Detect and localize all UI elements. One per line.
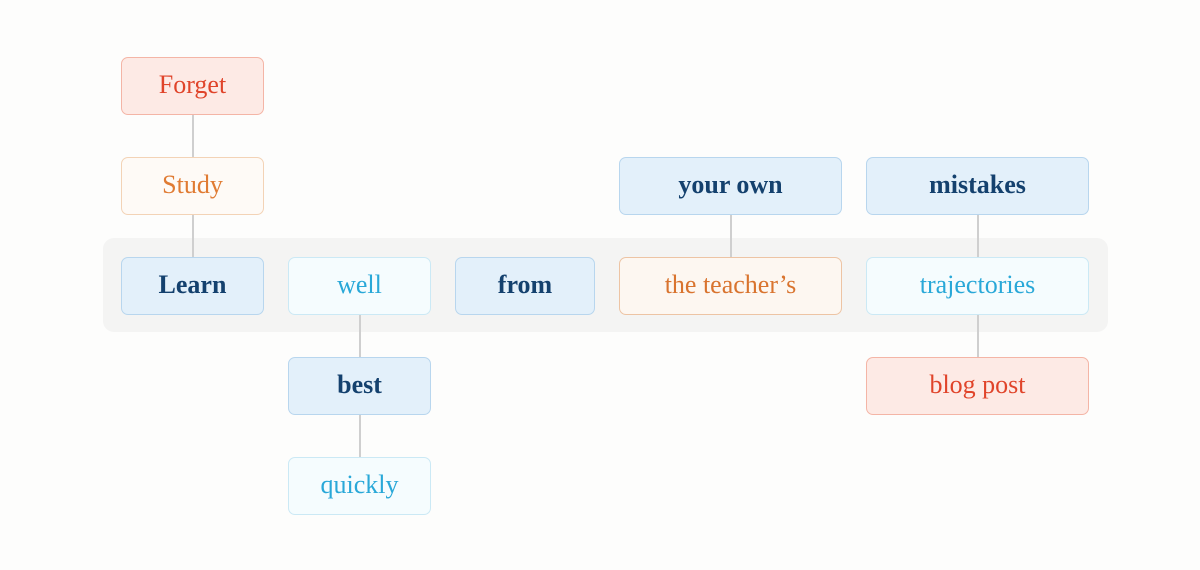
- node-label-quickly: quickly: [321, 472, 399, 500]
- node-label-trajectories: trajectories: [920, 272, 1036, 300]
- node-trajectories[interactable]: trajectories: [866, 257, 1089, 315]
- node-label-your-own: your own: [678, 172, 782, 200]
- connector-mistakes-trajectories: [977, 215, 979, 257]
- node-well[interactable]: well: [288, 257, 431, 315]
- connector-trajectories-blogpost: [977, 315, 979, 357]
- connector-study-learn: [192, 215, 194, 257]
- node-study[interactable]: Study: [121, 157, 264, 215]
- node-label-the-teachers: the teacher’s: [665, 272, 797, 300]
- node-your-own[interactable]: your own: [619, 157, 842, 215]
- node-label-well: well: [337, 272, 382, 300]
- node-blog-post[interactable]: blog post: [866, 357, 1089, 415]
- node-quickly[interactable]: quickly: [288, 457, 431, 515]
- node-mistakes[interactable]: mistakes: [866, 157, 1089, 215]
- parse-tree-canvas: ForgetStudyLearnwellbestquicklyfromyour …: [0, 0, 1200, 570]
- node-label-study: Study: [162, 172, 223, 200]
- node-label-blog-post: blog post: [929, 372, 1025, 400]
- node-label-from: from: [498, 272, 552, 300]
- connector-well-best: [359, 315, 361, 357]
- node-label-mistakes: mistakes: [929, 172, 1026, 200]
- node-best[interactable]: best: [288, 357, 431, 415]
- node-from[interactable]: from: [455, 257, 595, 315]
- node-the-teachers[interactable]: the teacher’s: [619, 257, 842, 315]
- node-label-best: best: [337, 372, 382, 400]
- connector-best-quickly: [359, 415, 361, 457]
- node-forget[interactable]: Forget: [121, 57, 264, 115]
- node-label-forget: Forget: [159, 72, 226, 100]
- connector-yourown-theteachers: [730, 215, 732, 257]
- node-label-learn: Learn: [159, 272, 227, 300]
- node-learn[interactable]: Learn: [121, 257, 264, 315]
- connector-forget-study: [192, 115, 194, 157]
